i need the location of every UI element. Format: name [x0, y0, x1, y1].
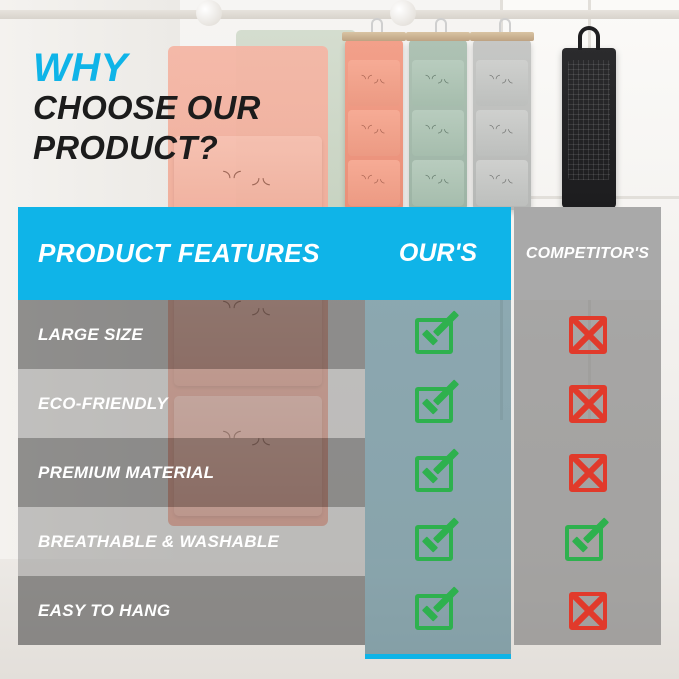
table-cell-feature: PREMIUM MATERIAL	[18, 438, 365, 507]
background-rail	[0, 10, 679, 19]
check-icon	[415, 383, 461, 425]
page-title: WHY CHOOSE OUR PRODUCT?	[33, 48, 353, 168]
table-cell-ours	[365, 300, 511, 369]
table-cell-feature: BREATHABLE & WASHABLE	[18, 507, 365, 576]
table-cell-feature: EASY TO HANG	[18, 576, 365, 645]
product-photo-organizer-coral: ◝◜◞◟ ◝◜◞◟ ◝◜◞◟	[345, 40, 403, 210]
check-icon	[415, 452, 461, 494]
cross-icon	[567, 452, 609, 494]
table-cell-feature: LARGE SIZE	[18, 300, 365, 369]
product-photo-organizer-gray: ◝◜◞◟ ◝◜◞◟ ◝◜◞◟	[473, 40, 531, 210]
check-icon	[565, 521, 611, 563]
headline-line-1: WHY	[33, 48, 353, 88]
table-row: BREATHABLE & WASHABLE	[18, 507, 661, 576]
table-body: LARGE SIZE ECO-FRIENDLY	[18, 300, 661, 645]
background-knob	[390, 0, 416, 26]
cross-icon	[567, 314, 609, 356]
feature-label: EASY TO HANG	[18, 601, 170, 621]
table-header-row: PRODUCT FEATURES OUR'S COMPETITOR'S	[18, 207, 661, 300]
table-row: PREMIUM MATERIAL	[18, 438, 661, 507]
table-row: ECO-FRIENDLY	[18, 369, 661, 438]
hook-icon	[578, 26, 600, 50]
table-row: EASY TO HANG	[18, 576, 661, 645]
table-cell-ours	[365, 438, 511, 507]
table-cell-feature: ECO-FRIENDLY	[18, 369, 365, 438]
feature-label: ECO-FRIENDLY	[18, 394, 168, 414]
table-cell-competitor	[514, 438, 661, 507]
headline-line-2: CHOOSE OUR	[33, 88, 353, 128]
table-row: LARGE SIZE	[18, 300, 661, 369]
feature-label: PREMIUM MATERIAL	[18, 463, 214, 483]
table-header-features: PRODUCT FEATURES	[18, 207, 365, 300]
cross-icon	[567, 590, 609, 632]
table-cell-competitor	[514, 507, 661, 576]
table-cell-ours	[365, 576, 511, 645]
product-comparison-infographic: ◝◜ ◞◟ ◝◜ ◞◟ ◝◜ ◞◟ ◝◜◞◟ ◝◜◞◟ ◝◜◞◟ ◝◜◞◟ ◝◜…	[0, 0, 679, 679]
product-photo-organizer-sage: ◝◜◞◟ ◝◜◞◟ ◝◜◞◟	[409, 40, 467, 210]
check-icon	[415, 314, 461, 356]
table-cell-ours	[365, 369, 511, 438]
check-icon	[415, 521, 461, 563]
table-header-features-label: PRODUCT FEATURES	[18, 238, 320, 269]
check-icon	[415, 590, 461, 632]
comparison-table: PRODUCT FEATURES OUR'S COMPETITOR'S LARG…	[18, 207, 661, 659]
table-header-ours-label: OUR'S	[399, 239, 477, 268]
table-cell-competitor	[514, 576, 661, 645]
table-header-ours: OUR'S	[365, 207, 511, 300]
background-knob	[196, 0, 222, 26]
feature-label: BREATHABLE & WASHABLE	[18, 532, 279, 552]
table-header-competitor-label: COMPETITOR'S	[526, 245, 649, 263]
product-photo-mesh-bag	[562, 48, 616, 208]
table-cell-competitor	[514, 369, 661, 438]
table-cell-competitor	[514, 300, 661, 369]
headline-line-3: PRODUCT?	[33, 128, 353, 168]
cross-icon	[567, 383, 609, 425]
table-header-competitor: COMPETITOR'S	[514, 207, 661, 300]
feature-label: LARGE SIZE	[18, 325, 143, 345]
table-cell-ours	[365, 507, 511, 576]
